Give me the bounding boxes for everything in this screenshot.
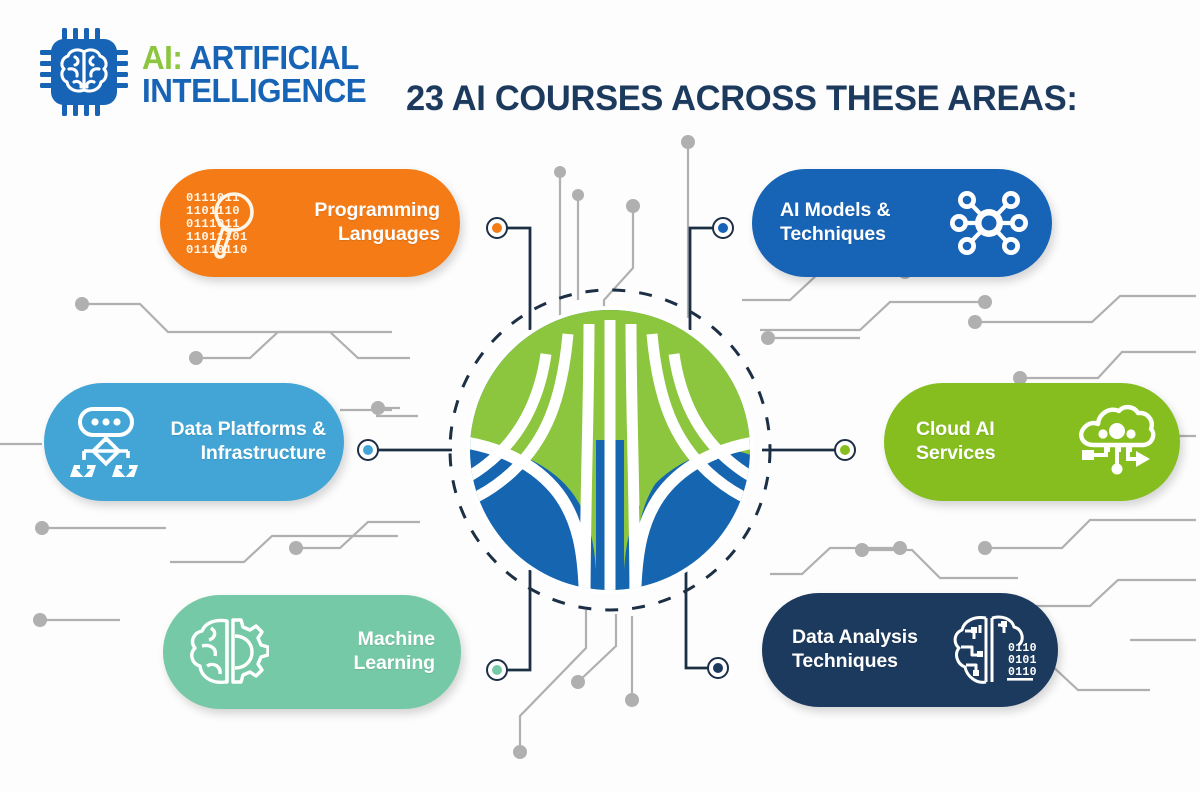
- area-card-data-analysis-techniques[interactable]: Data Analysis Techniques: [762, 593, 1058, 707]
- area-card-label: Data Platforms & Infrastructure: [154, 418, 326, 466]
- connector-dot-programming-languages[interactable]: [486, 217, 508, 239]
- brand-wordmark: AI: ARTIFICIAL INTELLIGENCE: [142, 42, 378, 107]
- svg-text:0110: 0110: [1008, 666, 1036, 679]
- cloud-circuit-icon: [1074, 403, 1158, 481]
- connector-dot-cloud-ai-services[interactable]: [834, 439, 856, 461]
- area-card-ai-models-techniques[interactable]: AI Models & Techniques: [752, 169, 1052, 277]
- brand-wordmark-line1: AI: ARTIFICIAL: [142, 42, 366, 74]
- connector-dot-data-analysis-techniques[interactable]: [707, 657, 729, 679]
- area-card-cloud-ai-services[interactable]: Cloud AI Services: [884, 383, 1180, 501]
- connector-dot-machine-learning[interactable]: [486, 659, 508, 681]
- data-flow-icon: [66, 406, 146, 478]
- area-card-label: Machine Learning: [277, 628, 435, 676]
- svg-text:1101110: 1101110: [186, 204, 240, 218]
- area-card-data-platforms-infrastructure[interactable]: Data Platforms & Infrastructure: [44, 383, 344, 501]
- binary-magnifier-icon: 0111011 1101110 0111011 11011101 0111011…: [186, 186, 268, 260]
- connector-dot-data-platforms-infrastructure[interactable]: [357, 439, 379, 461]
- area-card-label: Cloud AI Services: [916, 418, 1066, 466]
- brain-gear-icon: [187, 614, 269, 690]
- page-title: 23 AI COURSES ACROSS THESE AREAS:: [406, 78, 1078, 119]
- area-card-programming-languages[interactable]: 0111011 1101110 0111011 11011101 0111011…: [160, 169, 460, 277]
- area-card-machine-learning[interactable]: Machine Learning: [163, 595, 461, 709]
- brand-logo: AI: ARTIFICIAL INTELLIGENCE: [38, 26, 378, 123]
- tree-circle-logo: [450, 290, 770, 610]
- area-card-label: AI Models & Techniques: [780, 199, 940, 247]
- brand-wordmark-line2: INTELLIGENCE: [142, 75, 366, 107]
- connector-dot-ai-models-techniques[interactable]: [712, 217, 734, 239]
- area-card-label: Data Analysis Techniques: [792, 626, 944, 674]
- neural-network-icon: [950, 186, 1028, 260]
- area-card-label: Programming Languages: [280, 199, 440, 247]
- brain-chip-icon: [38, 26, 130, 123]
- header: AI: ARTIFICIAL INTELLIGENCE 23 AI COURSE…: [0, 0, 1200, 140]
- infographic-canvas: 0111011 1101110 0111011 11011101 0111011…: [0, 0, 1200, 792]
- brain-binary-icon: 0110 0101 0110: [952, 613, 1036, 687]
